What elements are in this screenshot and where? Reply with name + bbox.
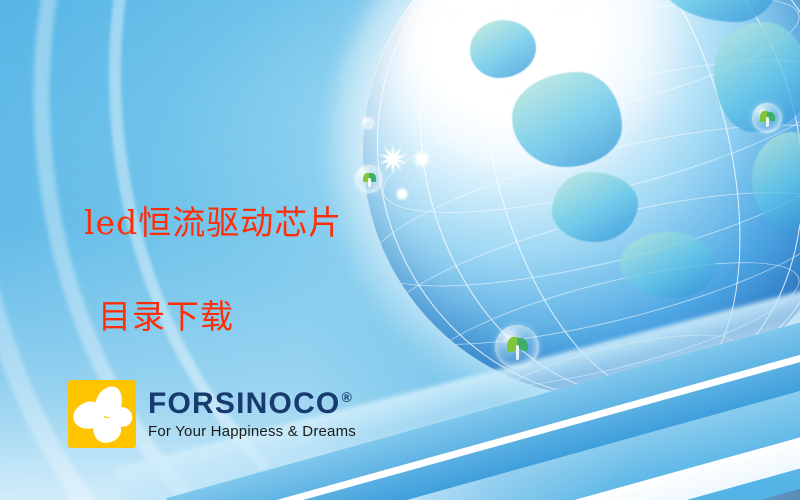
brand-name-row: FORSINOCO ® (148, 389, 356, 419)
registered-trademark-icon: ® (341, 390, 353, 404)
company-logo: FORSINOCO ® For Your Happiness & Dreams (68, 380, 356, 448)
logo-text-block: FORSINOCO ® For Your Happiness & Dreams (148, 389, 356, 439)
logo-flower-icon (68, 380, 136, 448)
headline-line-2: 目录下载 (84, 296, 514, 339)
headline: led恒流驱动芯片 目录下载 (84, 160, 514, 381)
brand-name: FORSINOCO (148, 389, 340, 419)
headline-line-1: led恒流驱动芯片 (84, 202, 514, 245)
brand-tagline: For Your Happiness & Dreams (148, 424, 356, 439)
promotional-banner: led恒流驱动芯片 目录下载 FORSINOCO ® For Your Happ… (0, 0, 800, 500)
